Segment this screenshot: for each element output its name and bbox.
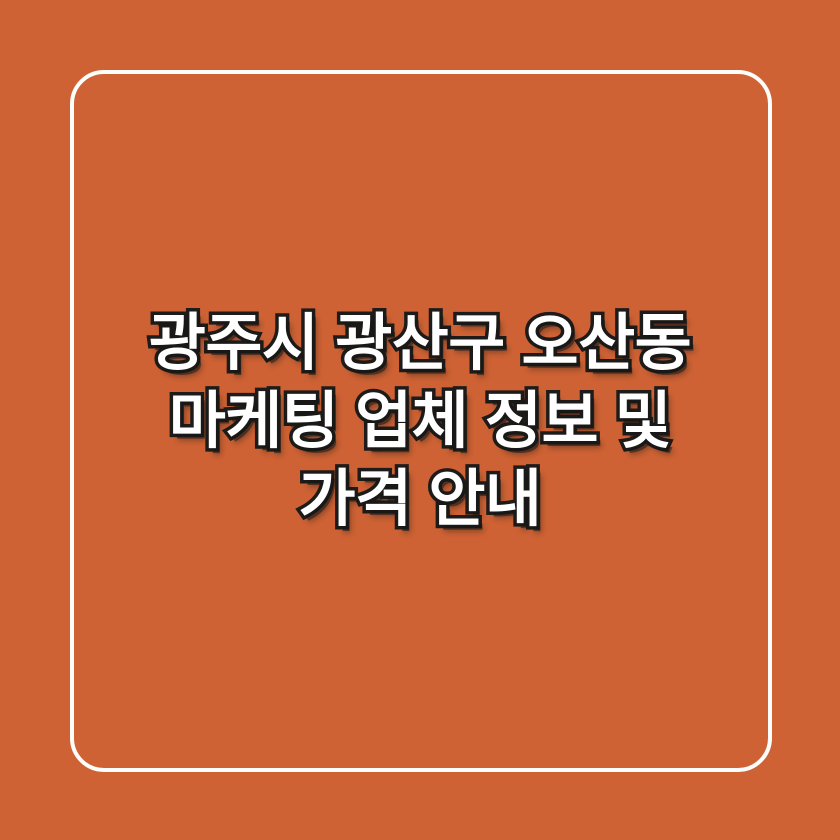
title-line-2: 마케팅 업체 정보 및 — [0, 383, 840, 461]
poster-canvas: 광주시 광산구 오산동 마케팅 업체 정보 및 가격 안내 — [0, 0, 840, 840]
title-line-1: 광주시 광산구 오산동 — [0, 305, 840, 383]
title-block: 광주시 광산구 오산동 마케팅 업체 정보 및 가격 안내 — [0, 305, 840, 539]
title-line-3: 가격 안내 — [0, 461, 840, 539]
